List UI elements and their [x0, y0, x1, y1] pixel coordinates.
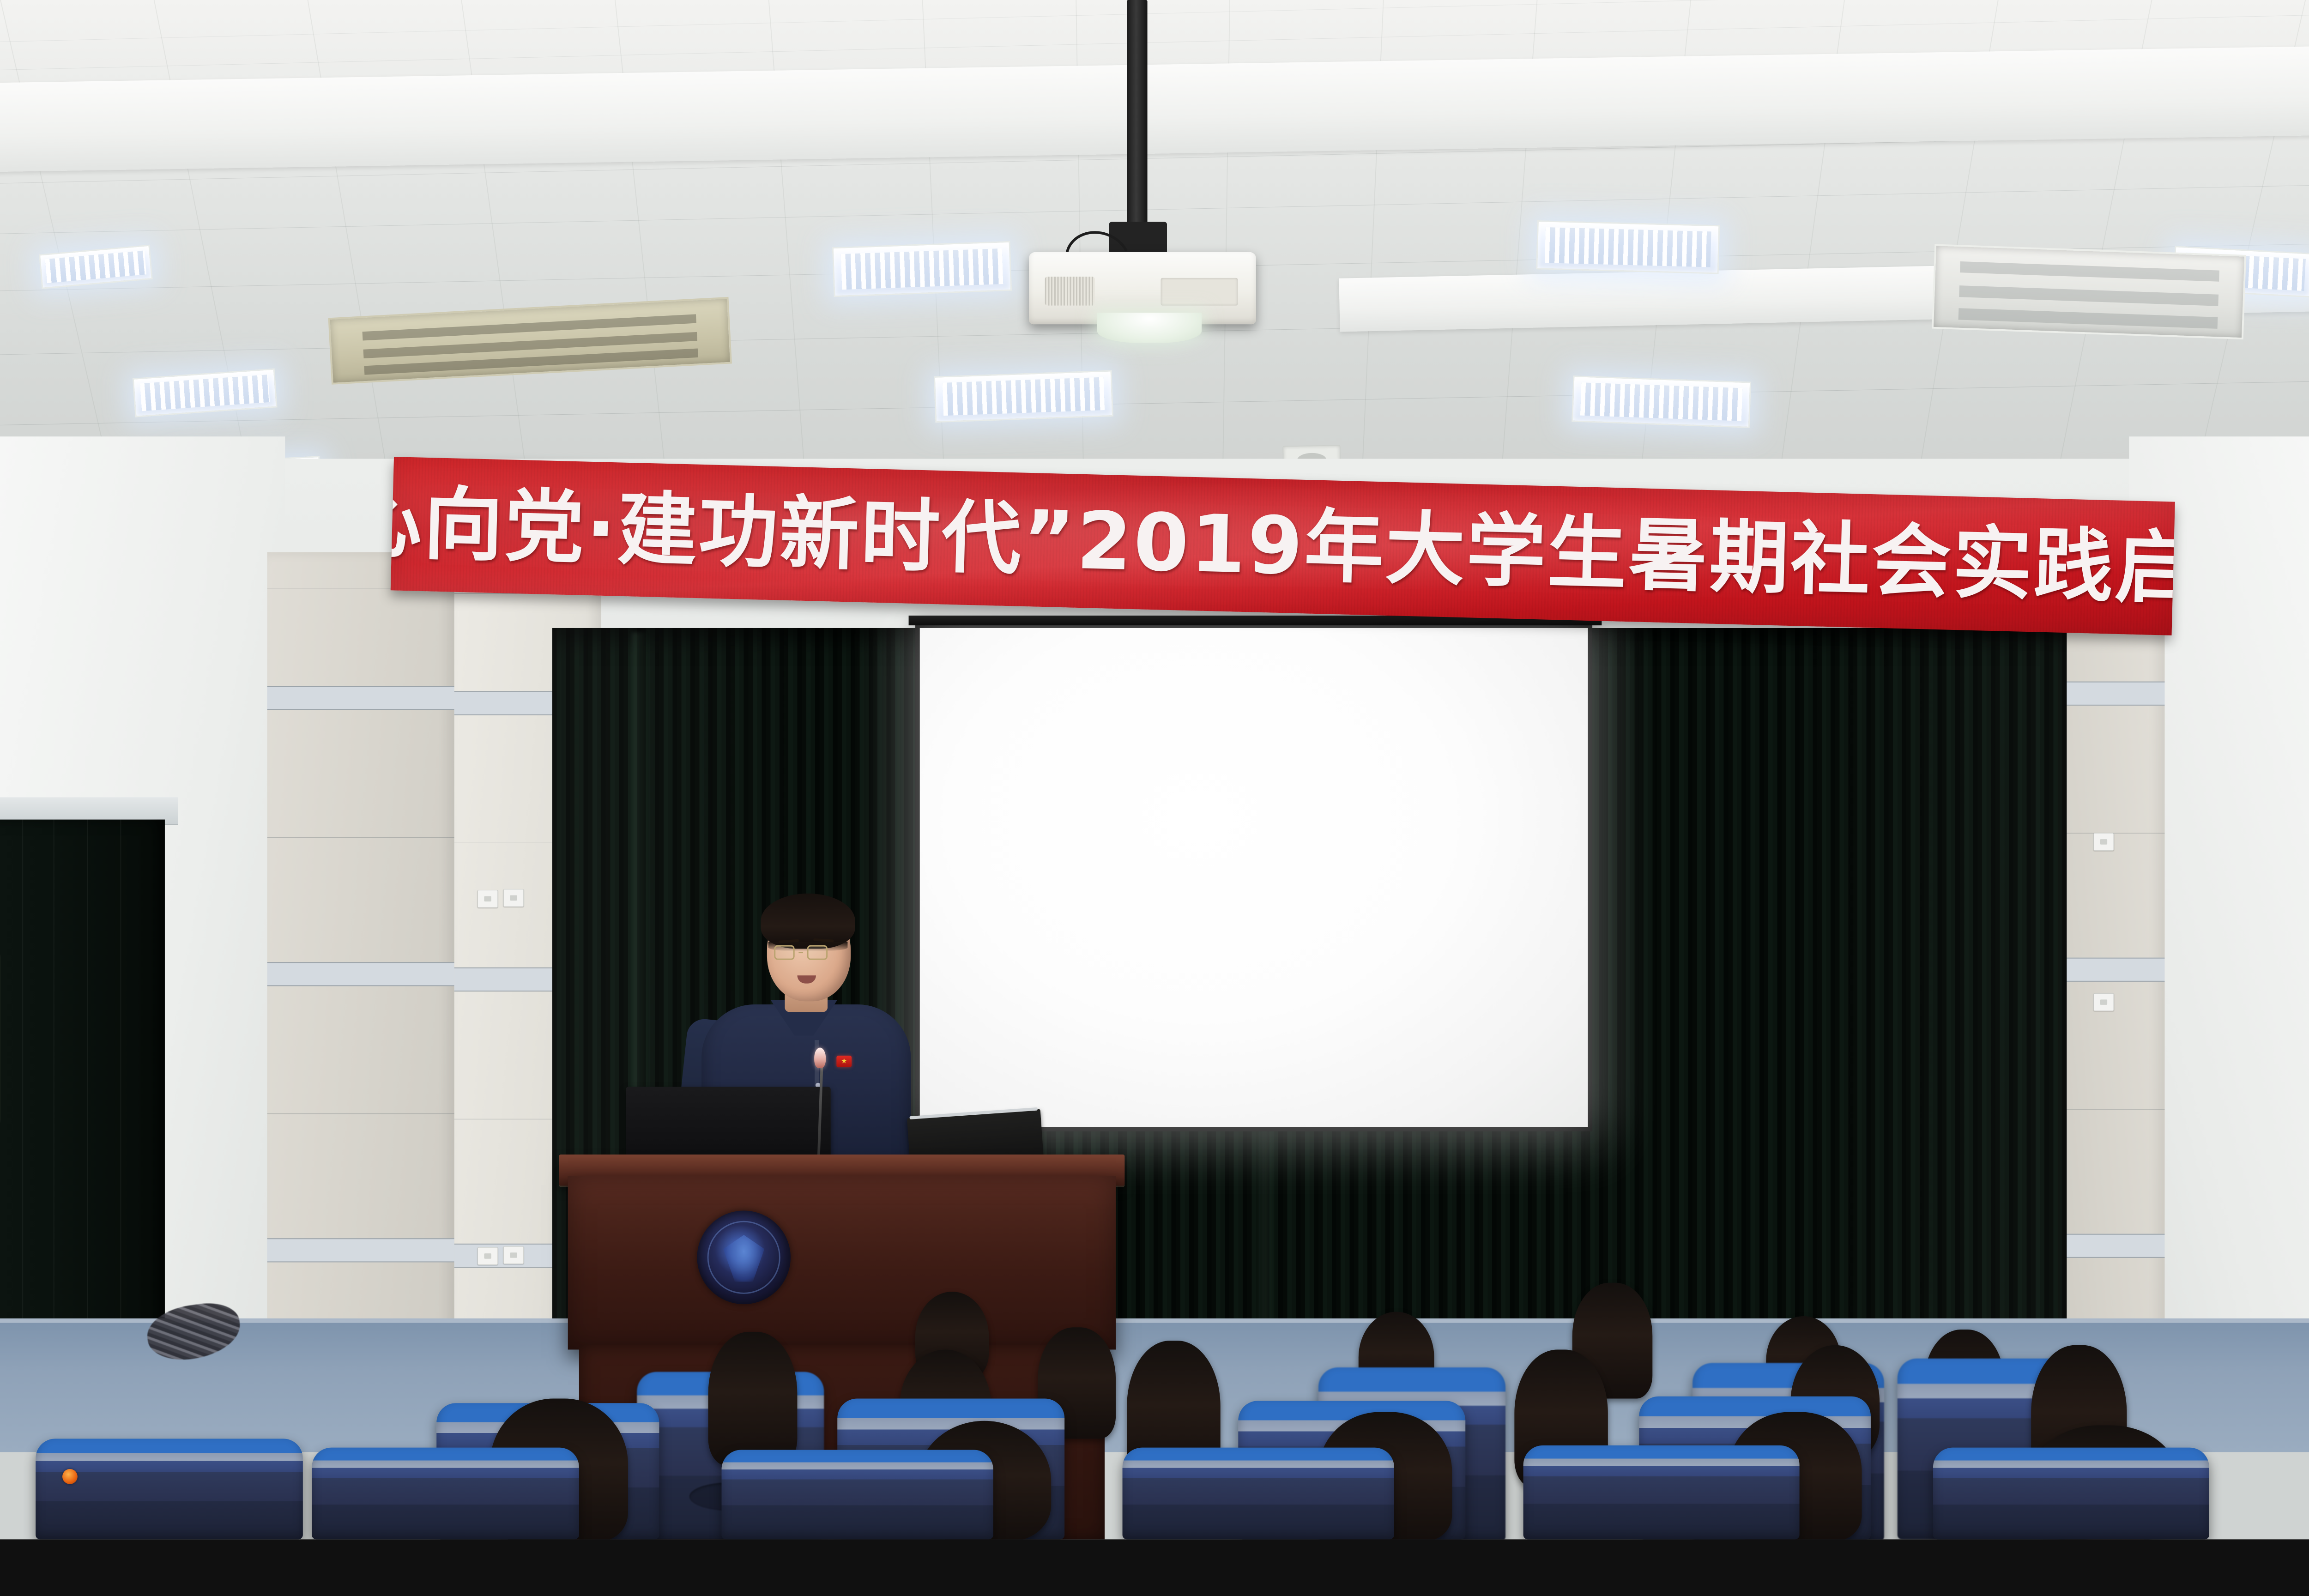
party-emblem-pin [836, 1056, 852, 1067]
wall-outlet[interactable] [503, 1246, 524, 1264]
presenter-hair [761, 894, 855, 949]
speaker-podium [568, 1176, 1116, 1349]
university-emblem [697, 1211, 791, 1305]
wall-outlet[interactable] [2093, 993, 2114, 1011]
ceiling-projector [1029, 252, 1256, 324]
projector-control-panel [1161, 278, 1238, 305]
wall-outlet[interactable] [2093, 833, 2114, 851]
projector-mount-pole [1127, 0, 1147, 232]
auditorium-seat[interactable] [1523, 1445, 1800, 1540]
ceiling-ac-vent [1932, 244, 2246, 339]
wall-outlet[interactable] [478, 1247, 498, 1265]
auditorium-seat[interactable] [1933, 1448, 2209, 1540]
projector-lens [1097, 313, 1202, 343]
gooseneck-microphone [814, 1048, 826, 1068]
attendee-head [708, 1332, 798, 1465]
auditorium-seat[interactable] [1123, 1448, 1394, 1540]
auditorium-seat[interactable] [36, 1439, 303, 1539]
seat-number-badge [62, 1469, 78, 1484]
auditorium-seat[interactable] [722, 1450, 993, 1539]
wall-pillar-left [267, 552, 454, 1363]
auditorium-photo: “青春心向党·建功新时代”2019年大学生暑期社会实践启动仪式 [0, 0, 2309, 1539]
wall-switch[interactable] [478, 890, 498, 908]
glasses-icon [774, 945, 828, 960]
ceiling-light-panel [1536, 220, 1720, 274]
projection-screen [920, 628, 1588, 1127]
projector-grille [1045, 277, 1094, 305]
ceiling-light-panel [1572, 375, 1751, 428]
ceiling-light-panel [934, 370, 1113, 423]
ceiling-light-panel [832, 241, 1012, 297]
projection-screen-frame [915, 623, 1592, 1131]
banner-text: “青春心向党·建功新时代”2019年大学生暑期社会实践启动仪式 [391, 477, 2175, 615]
side-doorway[interactable] [0, 820, 165, 1341]
auditorium-seat[interactable] [312, 1448, 579, 1540]
wall-outlet[interactable] [503, 889, 524, 907]
